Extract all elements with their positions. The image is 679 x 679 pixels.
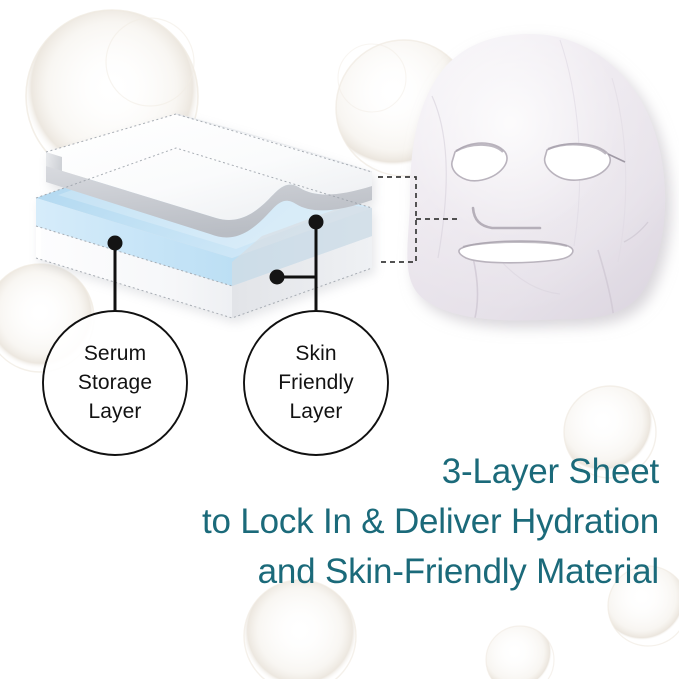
headline-line-2: to Lock In & Deliver Hydration [119,497,659,547]
callout-label-serum-storage-layer: Serum Storage Layer [44,339,186,426]
headline-line-3: and Skin-Friendly Material [119,547,659,597]
callout-label-skin-friendly-layer: Skin Friendly Layer [245,339,387,426]
callout-serum-line-3: Layer [44,397,186,426]
leader-dot-serum [108,236,123,251]
sheet-mask [400,24,679,334]
callout-skin-line-2: Friendly [245,368,387,397]
callout-skin-line-3: Layer [245,397,387,426]
callout-serum-line-2: Storage [44,368,186,397]
headline: 3-Layer Sheet to Lock In & Deliver Hydra… [119,447,659,597]
leader-dot-skin-top [309,215,324,230]
mask-mouth-opening [459,241,573,263]
mask-sheen [400,24,679,334]
infographic-canvas: Serum Storage Layer Skin Friendly Layer … [0,0,679,679]
layer-stack [36,114,372,318]
leader-dot-skin-bottom [270,270,285,285]
callout-skin-line-1: Skin [245,339,387,368]
headline-line-1: 3-Layer Sheet [119,447,659,497]
callout-serum-line-1: Serum [44,339,186,368]
base-layer-edge [36,226,41,260]
mask-detail [400,24,679,334]
